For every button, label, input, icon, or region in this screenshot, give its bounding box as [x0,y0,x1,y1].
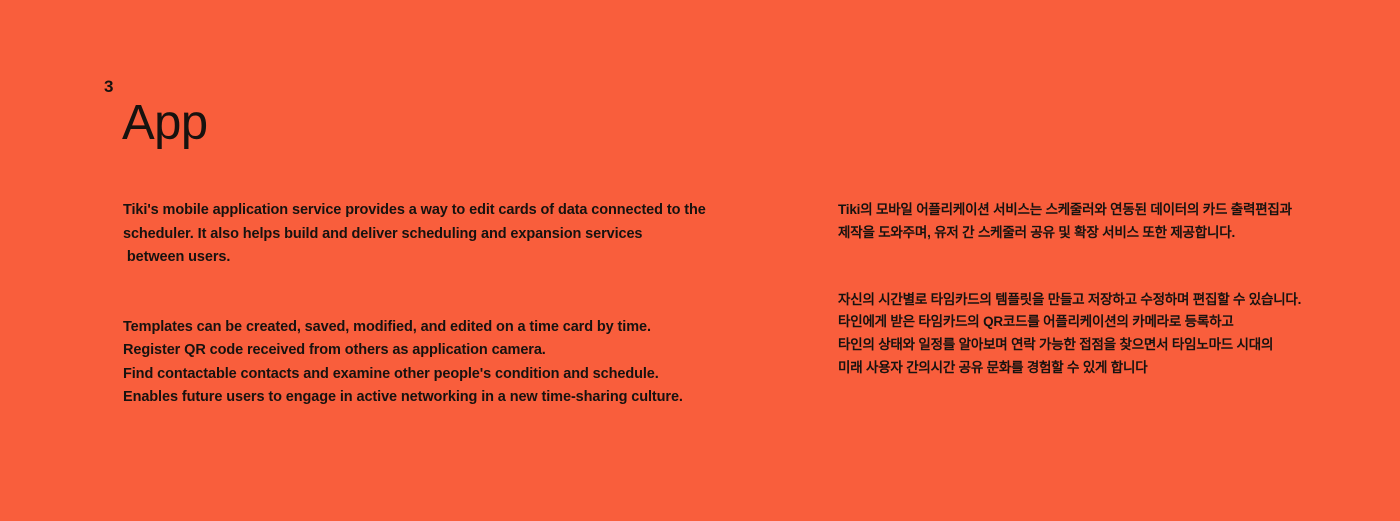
korean-paragraph-2: 자신의 시간별로 타임카드의 템플릿을 만들고 저장하고 수정하며 편집할 수 … [838,289,1308,380]
section-number: 3 [104,78,208,95]
text-line: 타인의 상태와 일정를 알아보며 연락 가능한 접점을 찾으면서 타임노마드 시… [838,334,1308,357]
english-text-column: Tiki's mobile application service provid… [123,199,743,410]
text-line: Find contactable contacts and examine ot… [123,363,743,387]
text-line: 타인에게 받은 타임카드의 QR코드를 어플리케이션의 카메라로 등록하고 [838,311,1308,334]
english-paragraph-2: Templates can be created, saved, modifie… [123,316,743,410]
text-line: between users. [123,246,743,270]
text-line: Templates can be created, saved, modifie… [123,316,743,340]
text-line: scheduler. It also helps build and deliv… [123,223,743,247]
section-heading: 3 App [104,78,208,148]
korean-text-column: Tiki의 모바일 어플리케이션 서비스는 스케줄러와 연동된 데이터의 카드 … [838,199,1308,380]
korean-paragraph-1: Tiki의 모바일 어플리케이션 서비스는 스케줄러와 연동된 데이터의 카드 … [838,199,1308,245]
presentation-slide: 3 App Tiki's mobile application service … [0,0,1400,521]
text-line: 미래 사용자 간의시간 공유 문화를 경험할 수 있게 합니다 [838,357,1308,380]
text-line: Tiki의 모바일 어플리케이션 서비스는 스케줄러와 연동된 데이터의 카드 … [838,199,1308,222]
text-line: Register QR code received from others as… [123,339,743,363]
text-line: 자신의 시간별로 타임카드의 템플릿을 만들고 저장하고 수정하며 편집할 수 … [838,289,1308,312]
text-line: Enables future users to engage in active… [123,386,743,410]
text-line: Tiki's mobile application service provid… [123,199,743,223]
section-title: App [122,99,208,148]
english-paragraph-1: Tiki's mobile application service provid… [123,199,743,270]
text-line: 제작을 도와주며, 유저 간 스케줄러 공유 및 확장 서비스 또한 제공합니다… [838,222,1308,245]
